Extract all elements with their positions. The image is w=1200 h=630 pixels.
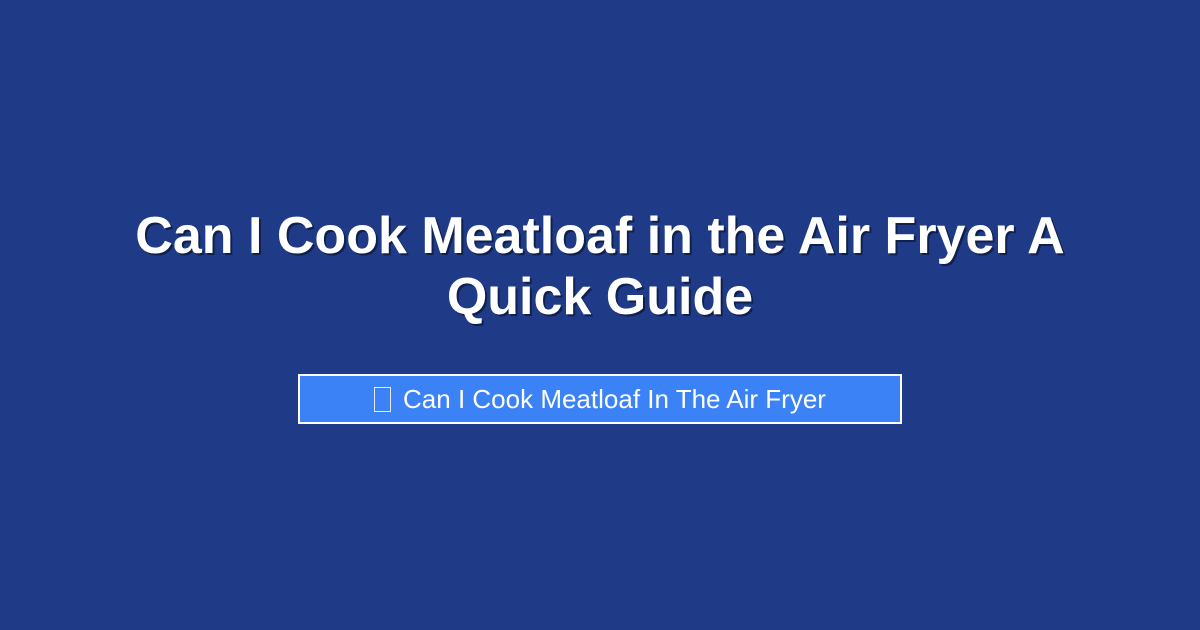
card-content: Can I Cook Meatloaf in the Air Fryer A Q… <box>0 206 1200 424</box>
missing-glyph-box-icon <box>374 387 391 412</box>
cta-button-label: Can I Cook Meatloaf In The Air Fryer <box>403 386 826 412</box>
cta-button[interactable]: Can I Cook Meatloaf In The Air Fryer <box>298 374 902 424</box>
page-title: Can I Cook Meatloaf in the Air Fryer A Q… <box>120 206 1080 328</box>
social-share-card: Can I Cook Meatloaf in the Air Fryer A Q… <box>0 0 1200 630</box>
